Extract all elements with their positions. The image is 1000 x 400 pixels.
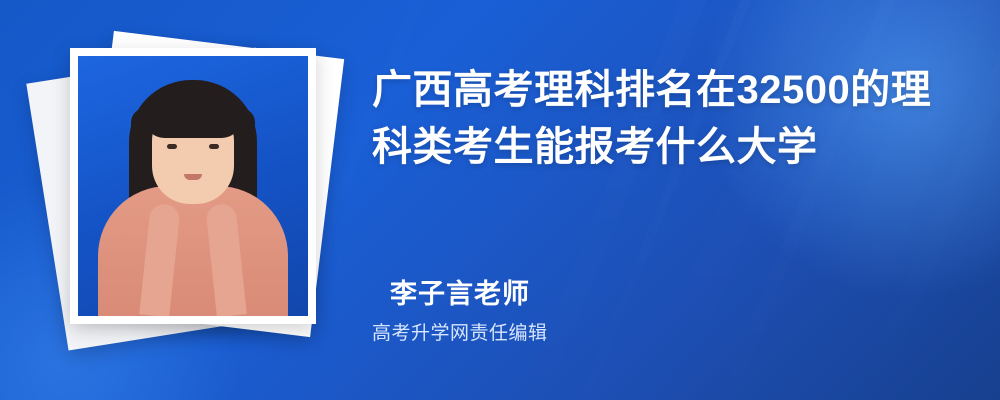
author-title: 高考升学网责任编辑: [372, 318, 548, 345]
portrait-dress: [98, 186, 288, 316]
portrait-photo: [78, 56, 308, 316]
photo-stack: [40, 26, 340, 366]
portrait-eye-left: [167, 144, 177, 149]
page-title: 广西高考理科排名在32500的理科类考生能报考什么大学: [372, 62, 958, 176]
headline-block: 广西高考理科排名在32500的理科类考生能报考什么大学: [372, 62, 958, 176]
photo-frame-front: [70, 48, 316, 324]
portrait-eye-right: [209, 144, 219, 149]
portrait-fringe: [145, 88, 241, 138]
author-name: 李子言老师: [390, 272, 530, 311]
article-banner: 广西高考理科排名在32500的理科类考生能报考什么大学 李子言老师 高考升学网责…: [0, 0, 1000, 400]
